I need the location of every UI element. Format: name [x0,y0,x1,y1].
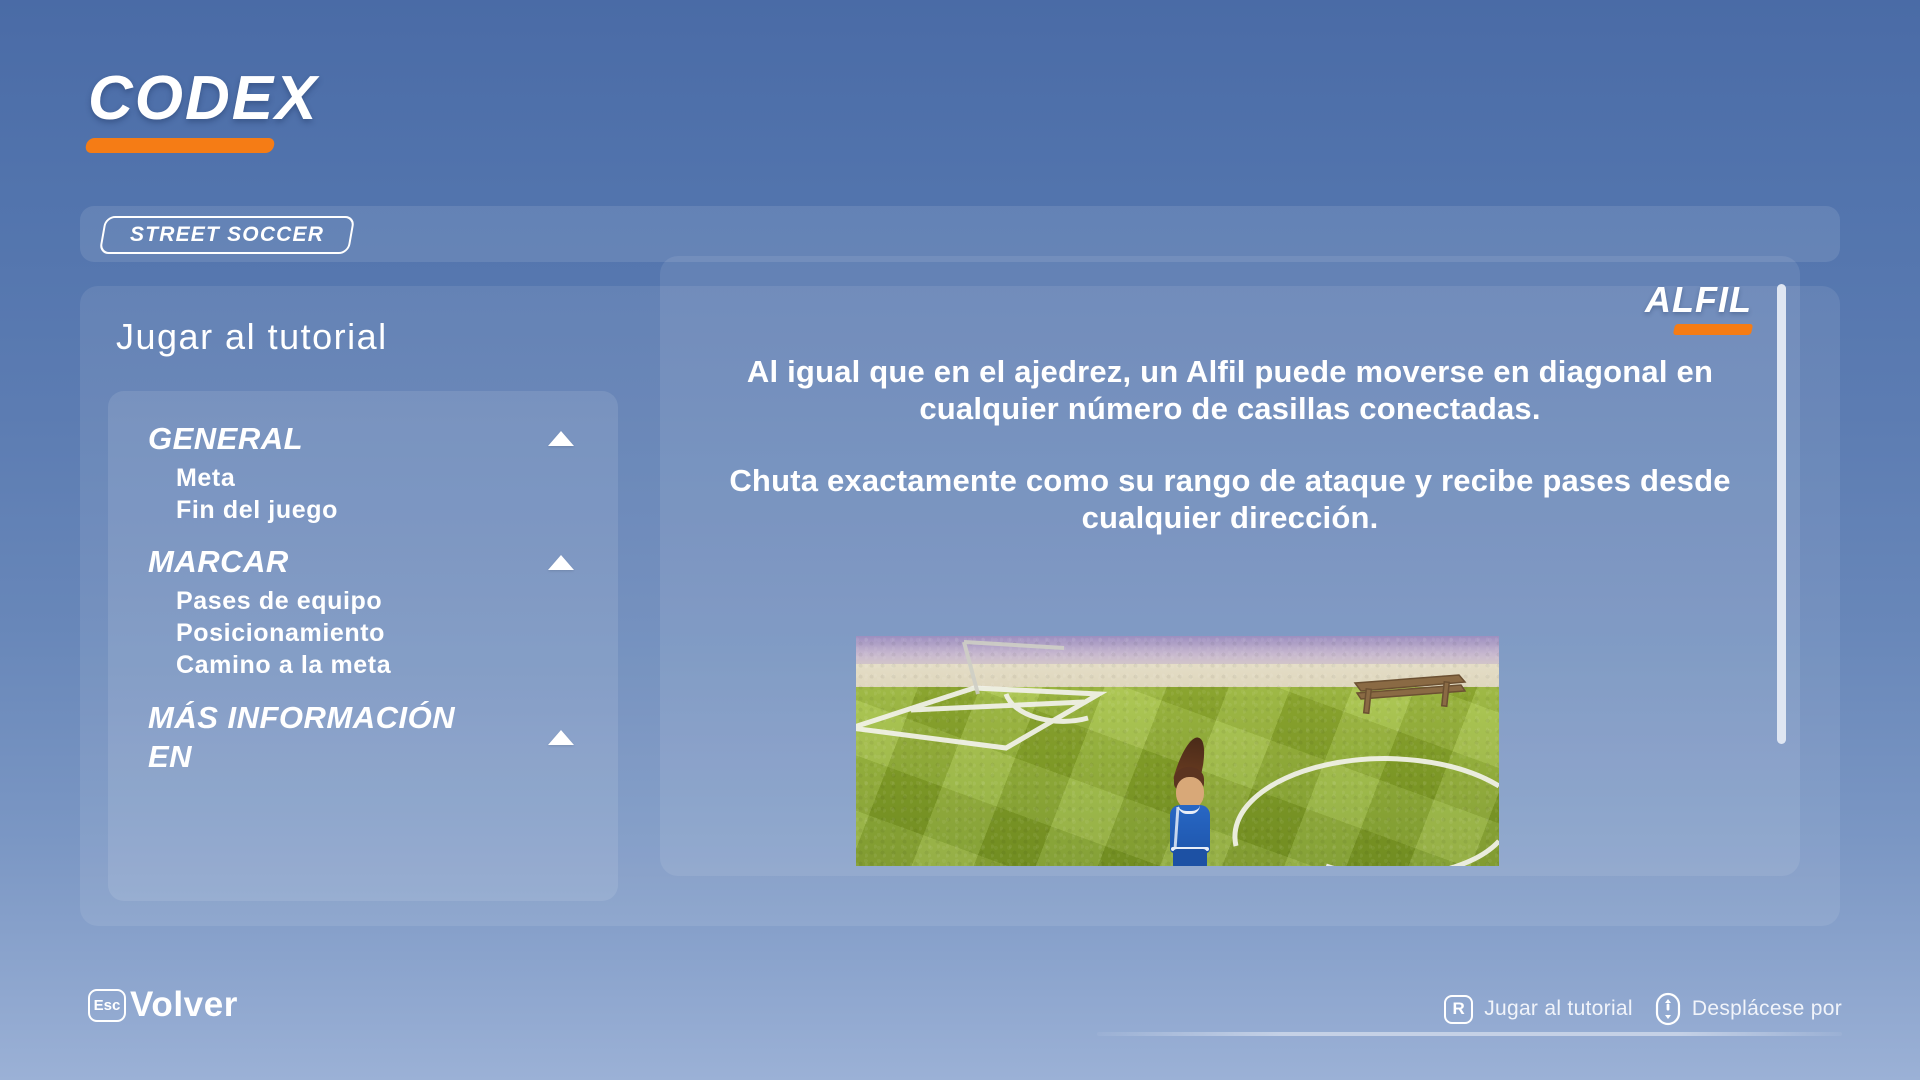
sidebar-item-pases-de-equipo[interactable]: Pases de equipo [176,585,588,617]
r-key-badge[interactable]: R [1444,995,1473,1024]
codex-main-card: Jugar al tutorial GENERAL Meta Fin del j… [80,286,1840,926]
player-shorts [1173,849,1207,866]
player-character [1161,737,1223,866]
footer-hints: R Jugar al tutorial Desplácese por [1444,992,1842,1026]
piece-underline-bar [1673,324,1753,335]
sidebar-item-camino-a-la-meta[interactable]: Camino a la meta [176,649,588,681]
sidebar-group-general[interactable]: GENERAL [148,419,588,459]
description-paragraph-1: Al igual que en el ajedrez, un Alfil pue… [700,354,1760,427]
piece-description: Al igual que en el ajedrez, un Alfil pue… [700,354,1760,536]
footer-divider [1097,1032,1842,1036]
caret-up-icon[interactable] [548,555,574,570]
sidebar-group-marcar-items: Pases de equipo Posicionamiento Camino a… [176,585,588,682]
description-paragraph-2: Chuta exactamente como su rango de ataqu… [700,463,1760,536]
content-scrollbar[interactable] [1777,284,1786,844]
content-scrollbar-thumb[interactable] [1777,284,1786,744]
logo-text: CODEX [88,68,318,130]
back-hint[interactable]: Esc Volver [88,985,238,1025]
hint-scroll[interactable]: Desplácese por [1655,992,1842,1026]
park-bench-icon [1347,673,1467,715]
sidebar-list: GENERAL Meta Fin del juego MARCAR Pases … [108,391,618,777]
piece-header: ALFIL [1645,282,1752,335]
sidebar-item-meta[interactable]: Meta [176,462,588,494]
logo-underline-bar [84,138,275,153]
codex-content-panel: ALFIL Al igual que en el ajedrez, un Alf… [660,256,1800,876]
hint-play-tutorial-label: Jugar al tutorial [1484,997,1633,1021]
sidebar-item-fin-del-juego[interactable]: Fin del juego [176,494,588,526]
page-title: Jugar al tutorial [116,316,388,358]
caret-up-icon[interactable] [548,431,574,446]
sidebar-item-posicionamiento[interactable]: Posicionamiento [176,617,588,649]
tab-street-soccer[interactable]: STREET SOCCER [99,216,356,254]
sidebar-group-marcar[interactable]: MARCAR [148,542,588,582]
sidebar-group-mas-informacion-en-title: MÁS INFORMACIÓN EN [148,698,498,777]
sidebar-group-general-title: GENERAL [148,419,303,459]
category-tabbar: STREET SOCCER [80,206,1840,262]
app-logo: CODEX [88,68,318,153]
caret-up-icon[interactable] [548,730,574,745]
esc-key-badge[interactable]: Esc [88,989,126,1022]
back-label: Volver [130,985,238,1025]
hint-play-tutorial[interactable]: R Jugar al tutorial [1444,995,1633,1024]
sidebar-group-marcar-title: MARCAR [148,542,289,582]
sidebar-group-general-items: Meta Fin del juego [176,462,588,527]
tab-street-soccer-label: STREET SOCCER [130,223,324,247]
hint-scroll-label: Desplácese por [1692,997,1842,1021]
mouse-scroll-icon[interactable] [1655,992,1681,1026]
codex-sidebar[interactable]: GENERAL Meta Fin del juego MARCAR Pases … [108,391,618,901]
gameplay-screenshot [856,636,1499,866]
piece-name: ALFIL [1645,282,1752,318]
sidebar-group-mas-informacion-en[interactable]: MÁS INFORMACIÓN EN [148,698,588,777]
